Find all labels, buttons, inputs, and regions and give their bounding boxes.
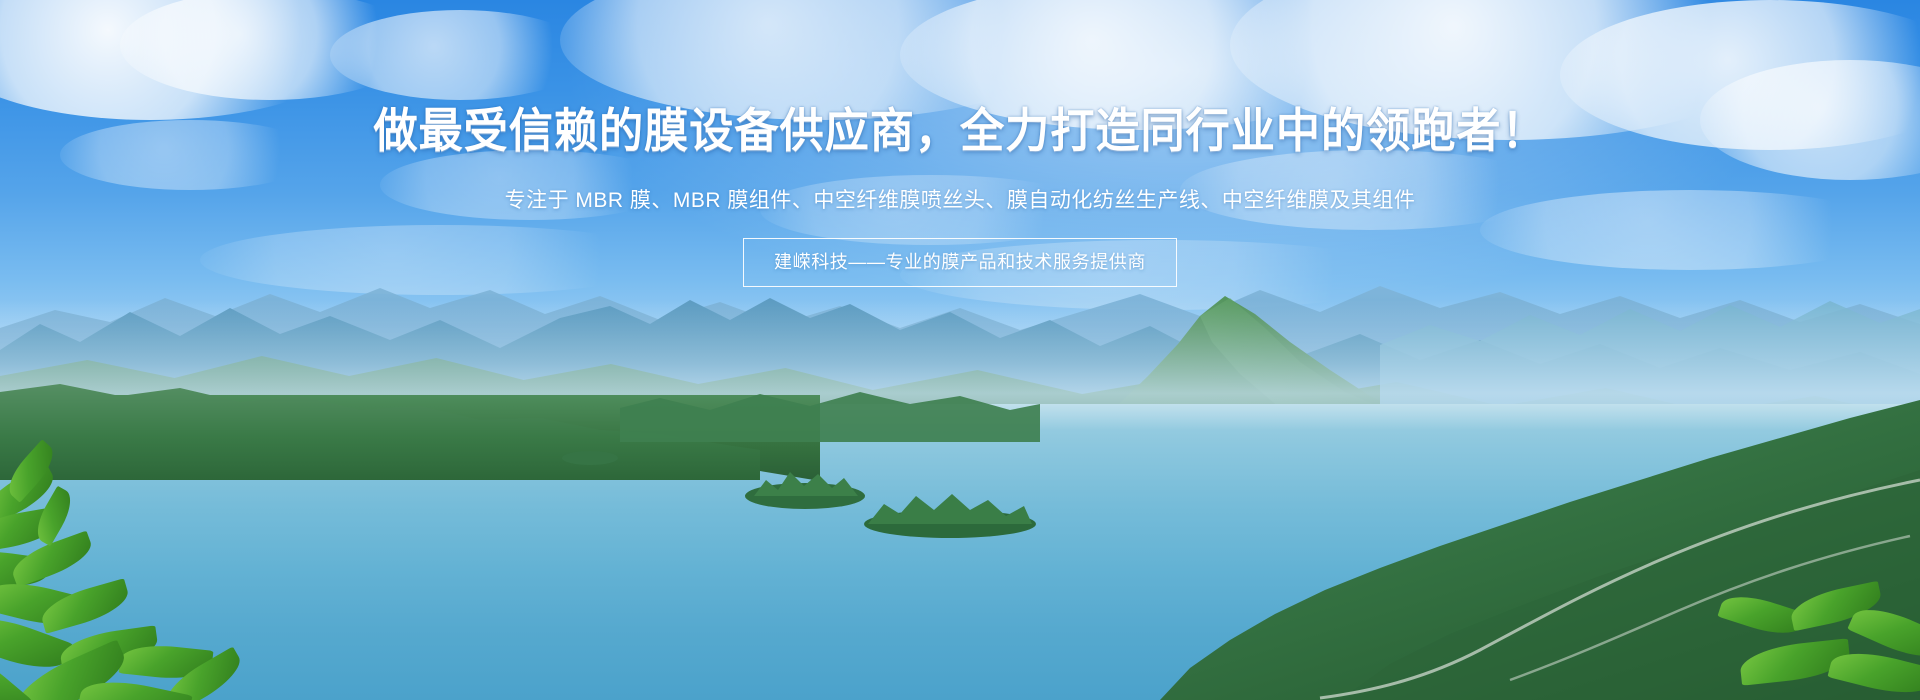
mountain-road [1120,440,1920,700]
island-center [740,452,870,512]
ridge-center [620,352,1040,442]
company-tagline: 建嵘科技——专业的膜产品和技术服务提供商 [743,238,1177,287]
page-title: 做最受信赖的膜设备供应商，全力打造同行业中的领跑者！ [58,0,1863,159]
tagline-container: 建嵘科技——专业的膜产品和技术服务提供商 [0,216,1920,287]
island-right [860,470,1040,540]
hero-banner: 做最受信赖的膜设备供应商，全力打造同行业中的领跑者！ 专注于 MBR 膜、MBR… [0,0,1920,700]
banner-text-content: 做最受信赖的膜设备供应商，全力打造同行业中的领跑者！ 专注于 MBR 膜、MBR… [0,0,1920,287]
banner-subtitle: 专注于 MBR 膜、MBR 膜组件、中空纤维膜喷丝头、膜自动化纺丝生产线、中空纤… [0,159,1920,216]
island-small [560,440,620,466]
